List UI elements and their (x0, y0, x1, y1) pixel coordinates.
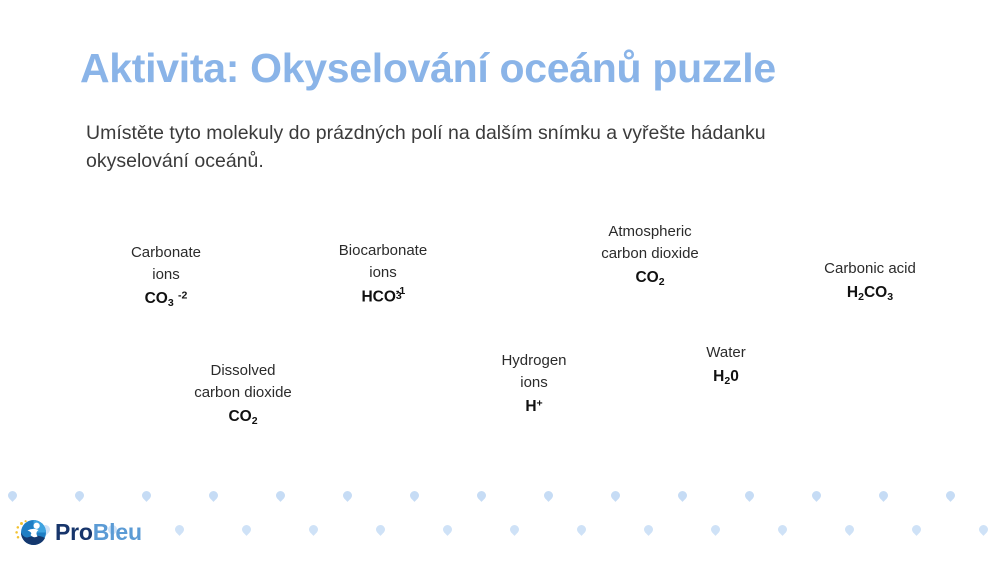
water-droplet-icon (173, 523, 186, 536)
logo-text-pro: Pro (55, 519, 93, 545)
water-droplet-icon (240, 523, 253, 536)
water-droplet-icon (776, 523, 789, 536)
molecule-formula-water: H20 (672, 366, 780, 389)
water-droplet-icon (207, 489, 220, 502)
molecule-name: Hydrogen ions (470, 350, 598, 394)
droplet-pattern (0, 481, 1000, 563)
water-droplet-icon (140, 489, 153, 502)
molecule-name: Atmospheric carbon dioxide (578, 221, 722, 265)
molecule-card-bicarbonate[interactable]: Biocarbonate ions HCO3-1 (318, 240, 448, 308)
molecule-formula-carbonic-acid: H2CO3 (800, 282, 940, 305)
molecule-card-atmospheric-co2[interactable]: Atmospheric carbon dioxide CO2 (578, 221, 722, 290)
molecule-formula-dissolved-co2: CO2 (176, 406, 310, 429)
molecule-name: Water (672, 342, 780, 364)
logo-text-bleu: Bleu (93, 519, 142, 545)
molecule-card-carbonate[interactable]: Carbonate ions CO3 -2 (104, 242, 228, 311)
water-droplet-icon (910, 523, 923, 536)
water-droplet-icon (977, 523, 990, 536)
water-droplet-icon (944, 489, 957, 502)
slide: Aktivita: Okyselování oceánů puzzle Umís… (0, 0, 1000, 563)
molecule-formula-hydrogen-ions: H+ (470, 396, 598, 418)
water-droplet-icon (877, 489, 890, 502)
water-droplet-icon (810, 489, 823, 502)
molecule-name: Biocarbonate ions (318, 240, 448, 284)
water-droplet-icon (274, 489, 287, 502)
water-droplet-icon (642, 523, 655, 536)
water-droplet-icon (374, 523, 387, 536)
water-droplet-icon (575, 523, 588, 536)
water-droplet-icon (609, 489, 622, 502)
water-droplet-icon (709, 523, 722, 536)
probleu-emblem-icon (14, 515, 48, 549)
water-droplet-icon (341, 489, 354, 502)
water-droplet-icon (843, 523, 856, 536)
logo: ProBleu (14, 515, 142, 549)
water-droplet-icon (408, 489, 421, 502)
molecule-card-hydrogen-ions[interactable]: Hydrogen ions H+ (470, 350, 598, 418)
molecule-card-dissolved-co2[interactable]: Dissolved carbon dioxide CO2 (176, 360, 310, 429)
molecule-card-water[interactable]: Water H20 (672, 342, 780, 389)
probleu-wordmark: ProBleu (55, 521, 142, 544)
molecule-name: Dissolved carbon dioxide (176, 360, 310, 404)
water-droplet-icon (441, 523, 454, 536)
molecule-name: Carbonate ions (104, 242, 228, 286)
water-droplet-icon (6, 489, 19, 502)
molecule-name: Carbonic acid (800, 258, 940, 280)
water-droplet-icon (508, 523, 521, 536)
water-droplet-icon (676, 489, 689, 502)
water-droplet-icon (475, 489, 488, 502)
water-droplet-icon (743, 489, 756, 502)
molecule-formula-bicarbonate: HCO3-1 (318, 286, 448, 309)
slide-instructions: Umístěte tyto molekuly do prázdných polí… (86, 120, 816, 175)
molecule-card-carbonic-acid[interactable]: Carbonic acid H2CO3 (800, 258, 940, 305)
molecule-formula-carbonate: CO3 -2 (104, 288, 228, 311)
page-title: Aktivita: Okyselování oceánů puzzle (80, 45, 776, 92)
water-droplet-icon (307, 523, 320, 536)
water-droplet-icon (542, 489, 555, 502)
water-droplet-icon (73, 489, 86, 502)
molecule-formula-atmospheric-co2: CO2 (578, 267, 722, 290)
